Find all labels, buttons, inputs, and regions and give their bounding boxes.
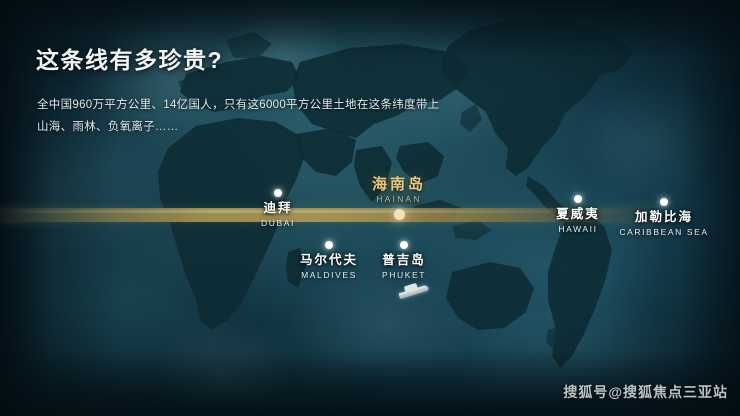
- watermark: 搜狐号@搜狐焦点三亚站: [563, 382, 728, 402]
- slide-canvas: 这条线有多珍贵? 全中国960万平方公里、14亿国人，只有这6000平方公里土地…: [0, 0, 740, 416]
- marker-dot-icon: [274, 189, 282, 197]
- map-marker-hawaii[interactable]: 夏威夷 HAWAII: [548, 195, 608, 235]
- map-marker-caribbean-sea[interactable]: 加勒比海 CARIBBEAN SEA: [612, 198, 716, 238]
- marker-label-cn: 夏威夷: [548, 207, 608, 222]
- page-title: 这条线有多珍贵?: [36, 41, 223, 75]
- marker-label-en: HAINAN: [349, 193, 449, 205]
- marker-label-en: PHUKET: [369, 269, 439, 281]
- marker-dot-icon: [574, 195, 582, 203]
- marker-label-en: HAWAII: [548, 223, 608, 235]
- marker-dot-icon: [325, 241, 333, 249]
- marker-label-cn: 海南岛: [349, 177, 449, 192]
- map-marker-phuket[interactable]: 普吉岛 PHUKET: [369, 241, 439, 281]
- marker-label-en: CARIBBEAN SEA: [612, 226, 716, 238]
- marker-label-en: DUBAI: [248, 217, 308, 229]
- marker-label-en: MALDIVES: [289, 269, 369, 281]
- subtitle-line-2: 山海、雨林、负氧离子……: [37, 116, 439, 138]
- map-marker-maldives[interactable]: 马尔代夫 MALDIVES: [289, 241, 369, 281]
- marker-dot-icon: [400, 241, 408, 249]
- golden-latitude-band-highlight: [0, 210, 640, 213]
- map-marker-dubai[interactable]: 迪拜 DUBAI: [248, 189, 308, 229]
- marker-label-cn: 加勒比海: [612, 210, 716, 225]
- marker-label-cn: 普吉岛: [369, 253, 439, 268]
- marker-dot-icon: [660, 198, 668, 206]
- map-marker-hainan[interactable]: 海南岛 HAINAN: [349, 177, 449, 205]
- page-subtitle: 全中国960万平方公里、14亿国人，只有这6000平方公里土地在这条纬度带上 山…: [37, 94, 439, 138]
- marker-label-cn: 马尔代夫: [289, 253, 369, 268]
- subtitle-line-1: 全中国960万平方公里、14亿国人，只有这6000平方公里土地在这条纬度带上: [37, 94, 439, 116]
- marker-label-cn: 迪拜: [248, 201, 308, 216]
- marker-dot-icon-hainan: [394, 209, 405, 220]
